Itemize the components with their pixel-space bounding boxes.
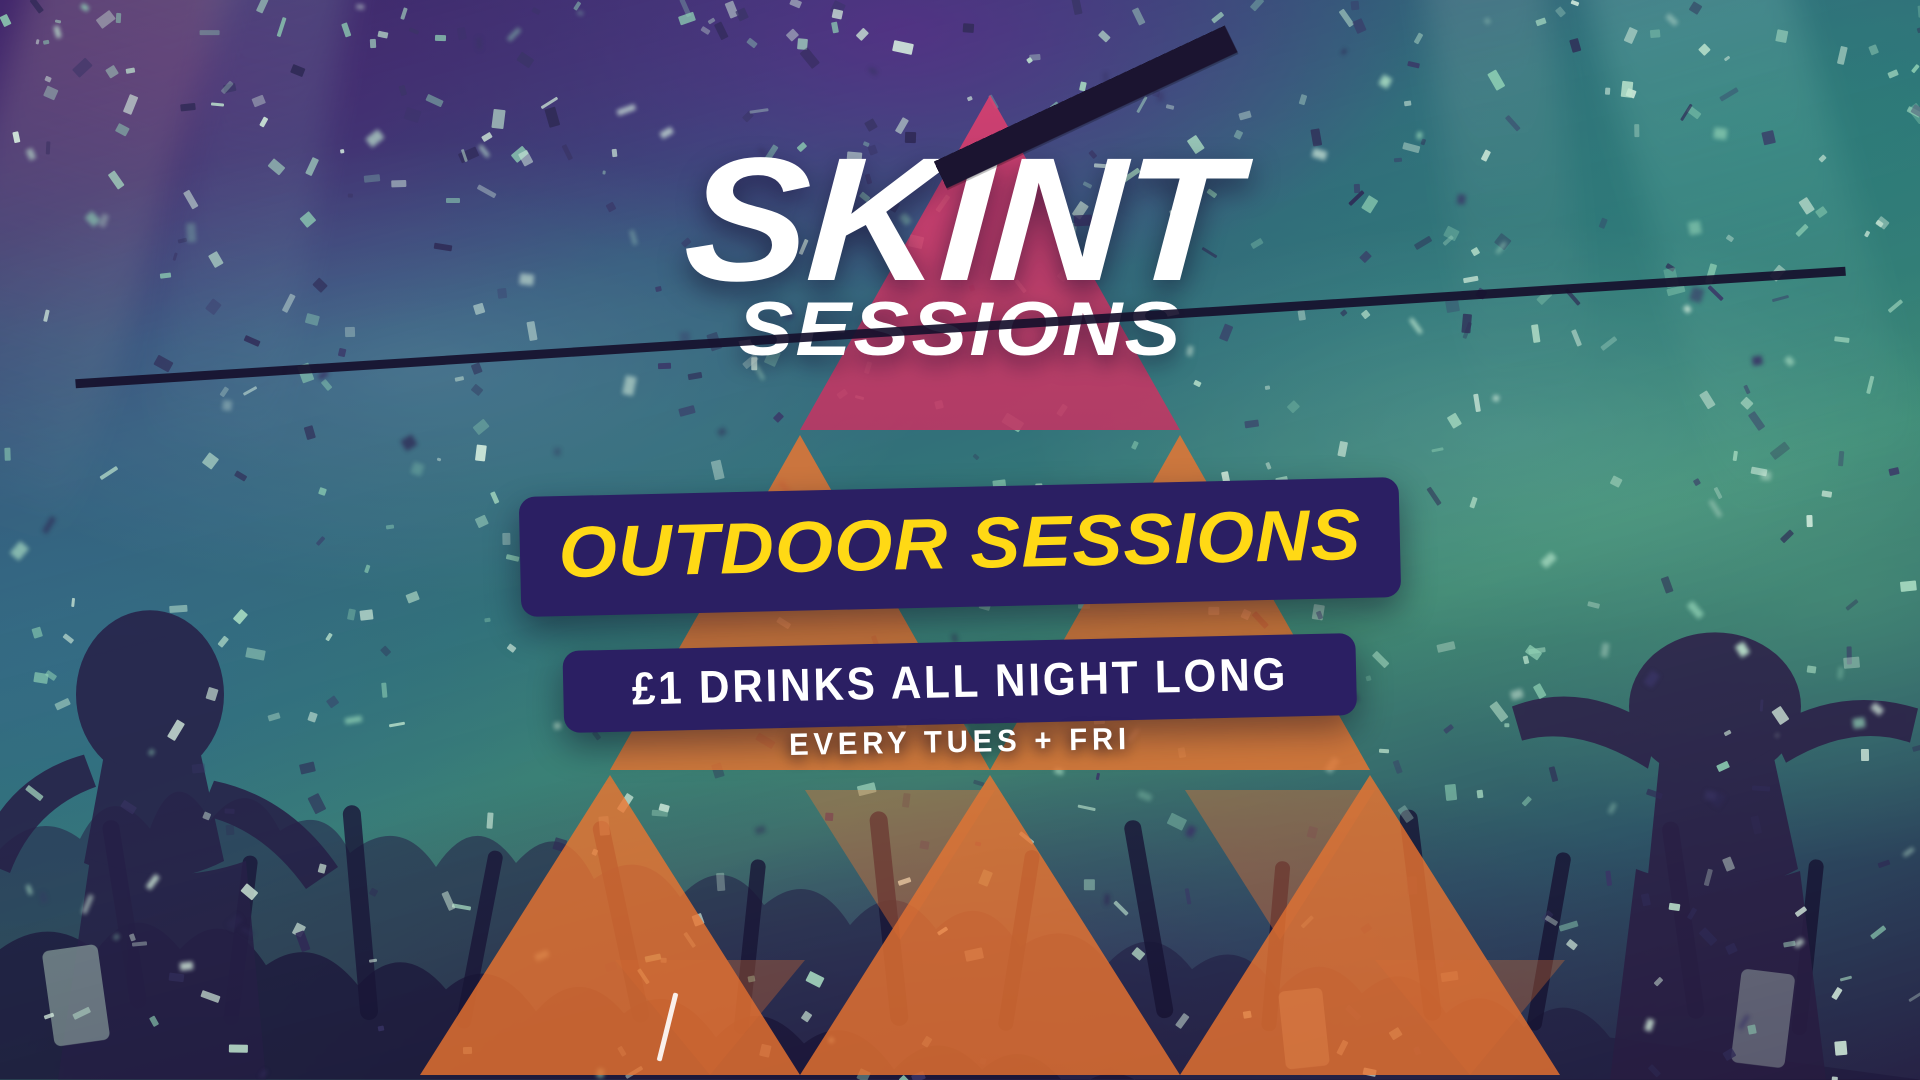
schedule-line: EVERY TUES + FRI <box>780 721 1141 763</box>
event-poster: SKINT SESSIONS OUTDOOR SESSIONS £1 DRINK… <box>0 0 1920 1080</box>
sessions-wordmark: SESSIONS <box>0 286 1920 373</box>
brand-lockup: SKINT SESSIONS <box>0 148 1920 373</box>
skint-wordmark: SKINT <box>681 148 1238 292</box>
outdoor-sessions-banner: OUTDOOR SESSIONS <box>519 477 1402 617</box>
schedule-label: EVERY TUES + FRI <box>789 721 1132 763</box>
drinks-offer-label: £1 DRINKS ALL NIGHT LONG <box>631 647 1288 716</box>
outdoor-sessions-label: OUTDOOR SESSIONS <box>558 494 1363 594</box>
